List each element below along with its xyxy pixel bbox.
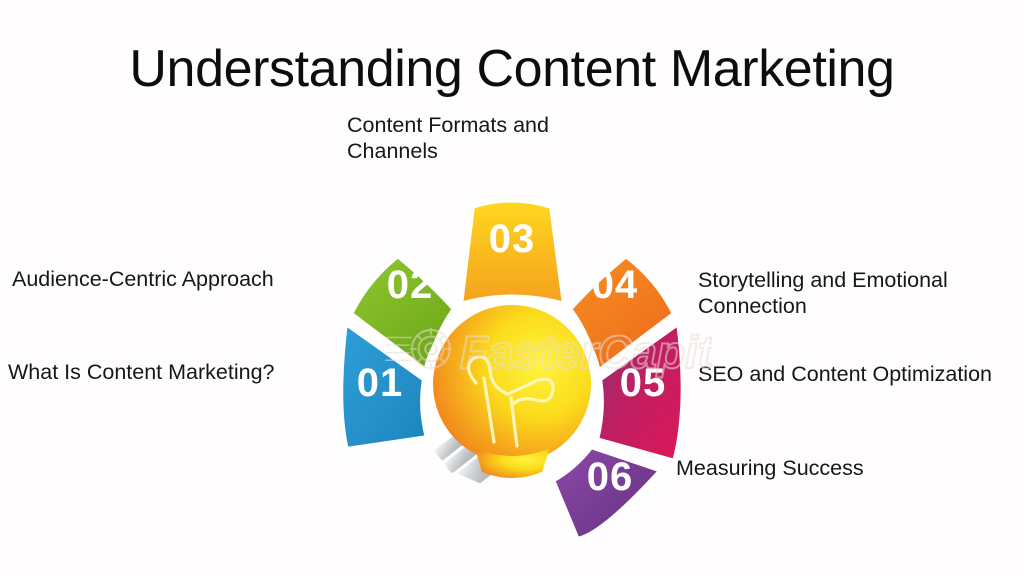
infographic-canvas: Understanding Content Marketing Audience… <box>0 0 1024 576</box>
petal-wheel-diagram: 03 02 04 01 05 <box>312 180 712 570</box>
segment-label-05: SEO and Content Optimization <box>698 361 1008 387</box>
segment-label-02: Audience-Centric Approach <box>12 266 330 292</box>
segment-label-03: Content Formats and Channels <box>347 112 597 164</box>
segment-label-01: What Is Content Marketing? <box>8 359 328 385</box>
page-title: Understanding Content Marketing <box>0 39 1024 99</box>
segment-label-04: Storytelling and Emotional Connection <box>698 267 1018 319</box>
lightbulb-icon <box>312 180 712 570</box>
segment-label-06: Measuring Success <box>676 455 1006 481</box>
bulb-glass <box>433 305 591 463</box>
